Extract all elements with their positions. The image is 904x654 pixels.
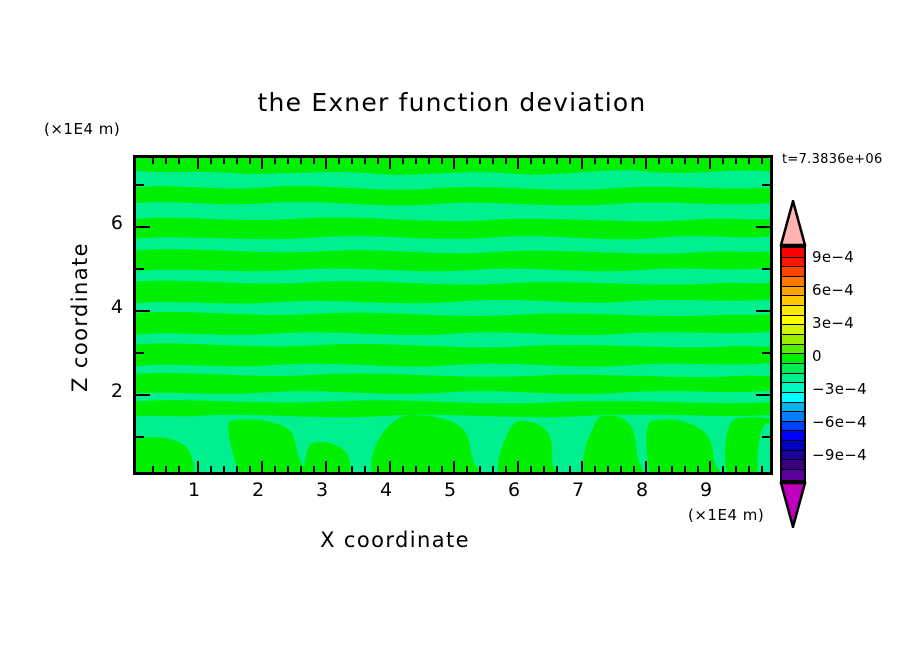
x-tick-top-minor xyxy=(377,158,379,164)
x-tick-top-minor xyxy=(364,158,366,164)
x-tick-top-minor xyxy=(313,158,315,164)
colorbar-segment xyxy=(782,316,804,326)
y-tick-label: 4 xyxy=(93,296,123,318)
x-tick-minor xyxy=(313,466,315,472)
x-tick-top-minor xyxy=(505,158,507,164)
x-tick-major xyxy=(261,461,263,472)
x-tick-top-minor xyxy=(236,158,238,164)
x-tick-minor xyxy=(236,466,238,472)
colorbar-segment xyxy=(782,364,804,374)
colorbar-segment xyxy=(782,383,804,393)
x-tick-top-minor xyxy=(607,158,609,164)
x-tick-label: 9 xyxy=(686,479,726,501)
x-tick-top-minor xyxy=(684,158,686,164)
x-tick-major xyxy=(645,461,647,472)
x-tick-top-minor xyxy=(466,158,468,164)
x-tick-minor xyxy=(633,466,635,472)
colorbar-segment xyxy=(782,374,804,384)
colorbar-tick-label: −3e−4 xyxy=(812,380,867,398)
x-tick-minor xyxy=(351,466,353,472)
y-tick-major xyxy=(136,226,150,228)
x-tick-top-minor xyxy=(152,158,154,164)
colorbar-segment xyxy=(782,345,804,355)
x-tick-top-major xyxy=(197,158,199,169)
x-tick-label: 4 xyxy=(366,479,406,501)
colorbar-tick-label: −9e−4 xyxy=(812,446,867,464)
plot-page: the Exner function deviation (×1E4 m) (×… xyxy=(0,0,904,654)
x-tick-minor xyxy=(428,466,430,472)
x-tick-minor xyxy=(441,466,443,472)
x-tick-top-minor xyxy=(274,158,276,164)
x-tick-top-minor xyxy=(722,158,724,164)
x-tick-minor xyxy=(415,466,417,472)
y-tick-right-major xyxy=(756,310,770,312)
x-tick-top-minor xyxy=(178,158,180,164)
x-tick-top-minor xyxy=(441,158,443,164)
x-tick-top-minor xyxy=(287,158,289,164)
x-tick-minor xyxy=(697,466,699,472)
x-tick-minor xyxy=(505,466,507,472)
x-tick-top-minor xyxy=(761,158,763,164)
x-tick-top-minor xyxy=(633,158,635,164)
x-tick-minor xyxy=(569,466,571,472)
x-tick-top-minor xyxy=(671,158,673,164)
colorbar-segment xyxy=(782,296,804,306)
x-tick-minor xyxy=(165,466,167,472)
x-tick-minor xyxy=(466,466,468,472)
x-tick-label: 5 xyxy=(430,479,470,501)
x-tick-top-minor xyxy=(300,158,302,164)
x-tick-top-minor xyxy=(556,158,558,164)
x-tick-minor xyxy=(761,466,763,472)
x-tick-top-minor xyxy=(210,158,212,164)
x-tick-minor xyxy=(722,466,724,472)
y-tick-right-major xyxy=(756,394,770,396)
contour-plot-area xyxy=(133,155,773,475)
colorbar-tick-label: 9e−4 xyxy=(812,248,854,266)
chart-title: the Exner function deviation xyxy=(0,88,904,117)
x-tick-top-minor xyxy=(569,158,571,164)
x-tick-top-major xyxy=(645,158,647,169)
x-tick-top-minor xyxy=(530,158,532,164)
y-tick-right-minor xyxy=(762,352,770,354)
x-tick-label: 1 xyxy=(174,479,214,501)
x-tick-minor xyxy=(223,466,225,472)
x-tick-top-major xyxy=(389,158,391,169)
y-tick-major xyxy=(136,394,150,396)
x-tick-minor xyxy=(274,466,276,472)
x-tick-top-major xyxy=(709,158,711,169)
x-tick-minor xyxy=(748,466,750,472)
colorbar-segment xyxy=(782,412,804,422)
x-tick-major xyxy=(581,461,583,472)
x-tick-top-minor xyxy=(165,158,167,164)
colorbar-segment xyxy=(782,393,804,403)
y-axis-unit-label: (×1E4 m) xyxy=(44,120,120,138)
x-tick-top-minor xyxy=(697,158,699,164)
colorbar-segment xyxy=(782,403,804,413)
x-tick-minor xyxy=(178,466,180,472)
colorbar-segment xyxy=(782,277,804,287)
x-tick-top-minor xyxy=(620,158,622,164)
y-tick-minor xyxy=(136,436,144,438)
x-tick-major xyxy=(389,461,391,472)
x-tick-top-minor xyxy=(338,158,340,164)
y-tick-label: 2 xyxy=(93,380,123,402)
x-tick-top-minor xyxy=(479,158,481,164)
x-tick-label: 7 xyxy=(558,479,598,501)
y-tick-right-major xyxy=(756,226,770,228)
x-tick-top-minor xyxy=(402,158,404,164)
timestamp-annotation: t=7.3836e+06 xyxy=(782,152,883,167)
colorbar-segment xyxy=(782,354,804,364)
x-tick-top-major xyxy=(517,158,519,169)
x-tick-top-minor xyxy=(492,158,494,164)
x-tick-minor xyxy=(300,466,302,472)
x-tick-minor xyxy=(658,466,660,472)
x-tick-top-minor xyxy=(543,158,545,164)
x-tick-minor xyxy=(556,466,558,472)
colorbar-segment xyxy=(782,441,804,451)
colorbar-segment xyxy=(782,325,804,335)
colorbar-segment xyxy=(782,287,804,297)
x-tick-major xyxy=(453,461,455,472)
x-tick-minor xyxy=(620,466,622,472)
x-tick-minor xyxy=(402,466,404,472)
x-tick-minor xyxy=(377,466,379,472)
colorbar-segment xyxy=(782,335,804,345)
x-tick-top-major xyxy=(453,158,455,169)
colorbar-segment xyxy=(782,258,804,268)
colorbar-segment xyxy=(782,460,804,470)
x-axis-unit-label: (×1E4 m) xyxy=(688,506,764,524)
x-tick-top-minor xyxy=(249,158,251,164)
x-tick-minor xyxy=(492,466,494,472)
colorbar-segment xyxy=(782,267,804,277)
x-tick-minor xyxy=(364,466,366,472)
y-tick-minor xyxy=(136,184,144,186)
x-tick-top-major xyxy=(581,158,583,169)
colorbar-tick-label: 0 xyxy=(812,347,822,365)
x-tick-minor xyxy=(152,466,154,472)
x-tick-minor xyxy=(543,466,545,472)
y-tick-right-minor xyxy=(762,268,770,270)
x-tick-major xyxy=(197,461,199,472)
colorbar-segment xyxy=(782,470,804,480)
x-tick-top-minor xyxy=(351,158,353,164)
y-tick-minor xyxy=(136,268,144,270)
x-tick-top-minor xyxy=(748,158,750,164)
y-tick-minor xyxy=(136,352,144,354)
colorbar-segment xyxy=(782,422,804,432)
colorbar xyxy=(780,246,806,482)
x-axis-title: X coordinate xyxy=(0,528,790,552)
x-tick-top-major xyxy=(261,158,263,169)
y-axis-title: Z coordinate xyxy=(68,217,92,417)
x-tick-top-minor xyxy=(428,158,430,164)
contour-field xyxy=(136,158,770,472)
x-tick-minor xyxy=(287,466,289,472)
x-tick-label: 6 xyxy=(494,479,534,501)
x-tick-top-minor xyxy=(594,158,596,164)
x-tick-major xyxy=(517,461,519,472)
colorbar-tick-label: 6e−4 xyxy=(812,281,854,299)
x-tick-minor xyxy=(530,466,532,472)
x-tick-top-minor xyxy=(415,158,417,164)
x-tick-label: 2 xyxy=(238,479,278,501)
y-tick-major xyxy=(136,310,150,312)
colorbar-over-arrow xyxy=(778,200,808,246)
x-tick-minor xyxy=(684,466,686,472)
x-tick-top-minor xyxy=(223,158,225,164)
y-tick-right-minor xyxy=(762,184,770,186)
x-tick-label: 8 xyxy=(622,479,662,501)
x-tick-top-minor xyxy=(735,158,737,164)
x-tick-major xyxy=(325,461,327,472)
y-tick-right-minor xyxy=(762,436,770,438)
colorbar-tick-label: −6e−4 xyxy=(812,413,867,431)
x-tick-minor xyxy=(735,466,737,472)
x-tick-label: 3 xyxy=(302,479,342,501)
x-tick-top-minor xyxy=(658,158,660,164)
y-tick-label: 6 xyxy=(93,212,123,234)
x-tick-minor xyxy=(671,466,673,472)
colorbar-tick-label: 3e−4 xyxy=(812,314,854,332)
x-tick-minor xyxy=(479,466,481,472)
x-tick-minor xyxy=(594,466,596,472)
colorbar-segment xyxy=(782,306,804,316)
colorbar-segment xyxy=(782,451,804,461)
x-tick-top-major xyxy=(325,158,327,169)
x-tick-minor xyxy=(210,466,212,472)
colorbar-segment xyxy=(782,248,804,258)
x-tick-minor xyxy=(607,466,609,472)
colorbar-under-arrow xyxy=(778,482,808,528)
colorbar-segment xyxy=(782,431,804,441)
x-tick-major xyxy=(709,461,711,472)
x-tick-minor xyxy=(249,466,251,472)
x-tick-minor xyxy=(338,466,340,472)
